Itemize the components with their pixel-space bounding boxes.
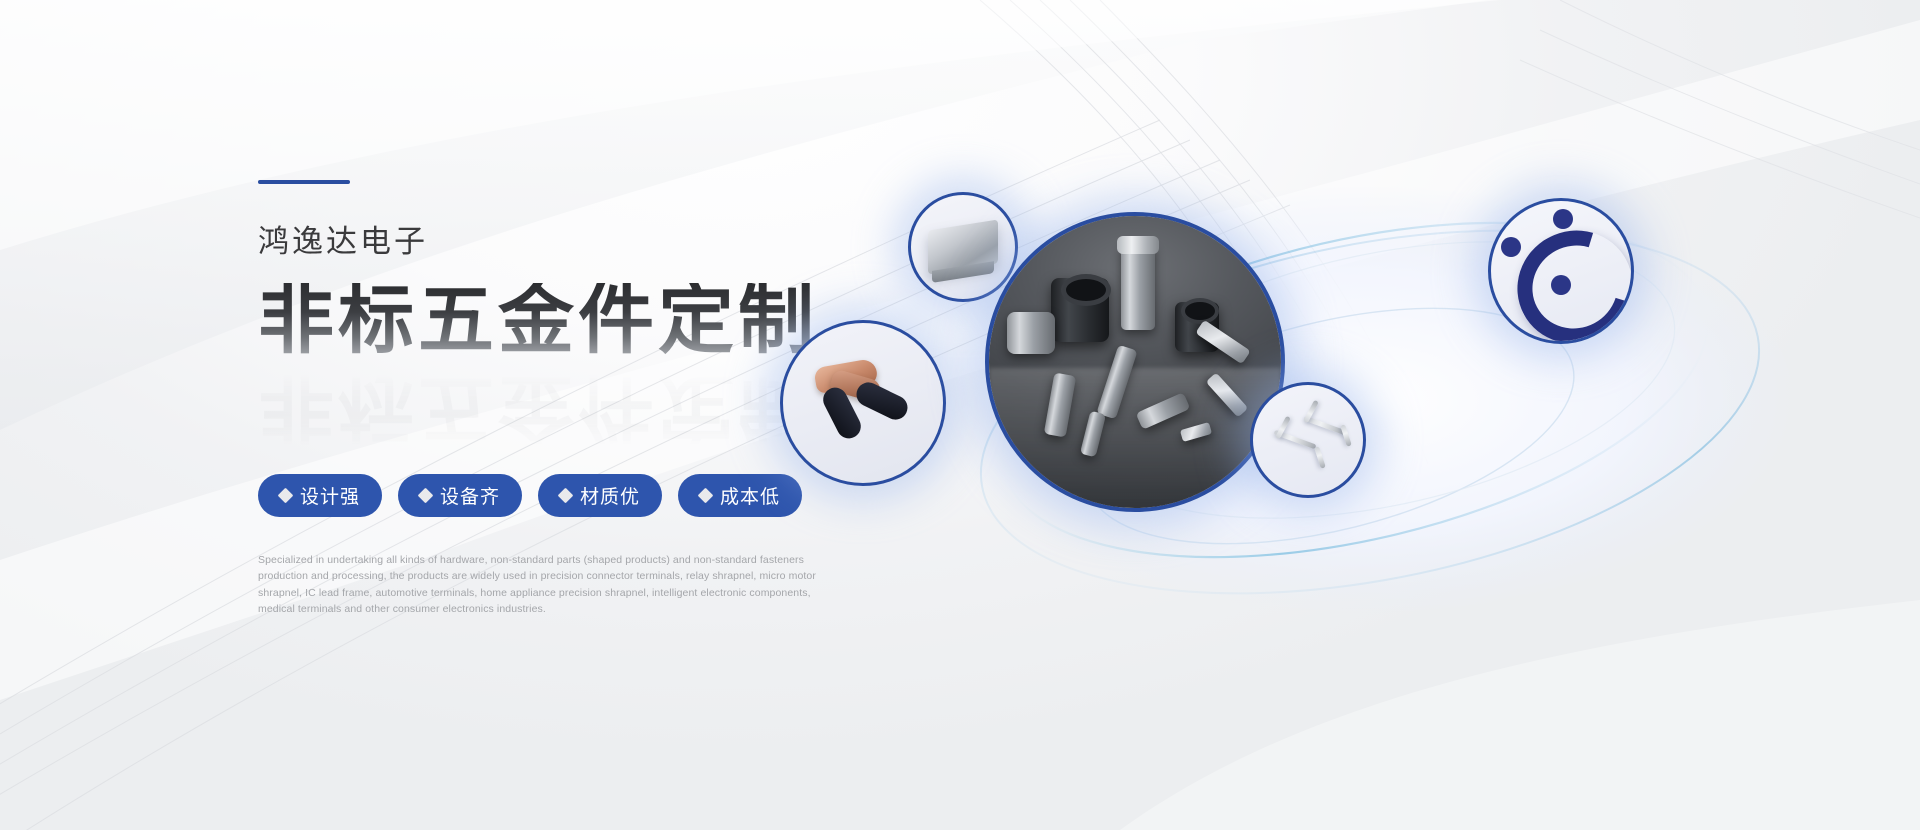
product-showcase [900, 150, 1900, 650]
diamond-icon [418, 488, 434, 504]
feature-pill-equipment[interactable]: 设备齐 [398, 474, 522, 517]
feature-pill-label: 成本低 [720, 482, 780, 509]
part-ring [1061, 274, 1111, 306]
feature-pill-label: 材质优 [580, 482, 640, 509]
clip-lug [1553, 209, 1573, 229]
part-ring [1181, 298, 1219, 324]
terminal-pins-image [1269, 403, 1349, 479]
headline-reflection: 非标五金件定制 [258, 369, 818, 445]
metal-enclosure-image [928, 219, 998, 274]
feature-pill-list: 设计强 设备齐 材质优 成本低 [258, 474, 802, 517]
part-cylinder [1121, 244, 1155, 330]
diamond-icon [558, 488, 574, 504]
part-connector [1007, 312, 1055, 354]
terminal-pins-bubble[interactable] [1250, 382, 1366, 498]
diamond-icon [278, 488, 294, 504]
clip-lug [1551, 275, 1571, 295]
clamp-grip [852, 378, 911, 423]
hardware-parts-bubble[interactable] [985, 212, 1285, 512]
feature-pill-cost[interactable]: 成本低 [678, 474, 802, 517]
terminal-pin [1340, 424, 1352, 446]
feature-pill-design[interactable]: 设计强 [258, 474, 382, 517]
clip-lug [1501, 237, 1521, 257]
retaining-clip-bubble[interactable] [1488, 198, 1634, 344]
feature-pill-label: 设计强 [300, 482, 360, 509]
surface-reflection [989, 368, 1281, 508]
diamond-icon [698, 488, 714, 504]
company-description: Specialized in undertaking all kinds of … [258, 552, 816, 617]
brand-name: 鸿逸达电子 [258, 216, 898, 261]
feature-pill-material[interactable]: 材质优 [538, 474, 662, 517]
battery-clamp-image [809, 359, 917, 445]
terminal-pin [1314, 446, 1326, 468]
battery-clamp-bubble[interactable] [780, 320, 946, 486]
accent-rule [258, 180, 350, 184]
feature-pill-label: 设备齐 [440, 482, 500, 509]
part-cap [1117, 236, 1159, 254]
hero-banner: 鸿逸达电子 非标五金件定制 非标五金件定制 设计强 设备齐 材质优 成本低 Sp… [0, 0, 1920, 830]
